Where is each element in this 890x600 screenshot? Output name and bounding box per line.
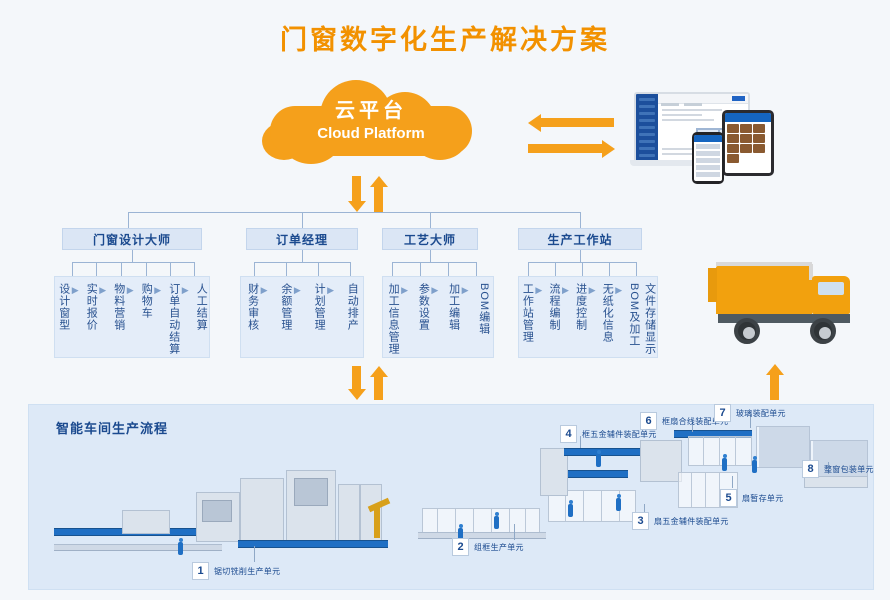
delivery-truck xyxy=(706,258,876,358)
laptop-toolbar xyxy=(658,94,748,104)
worker-figure xyxy=(752,460,757,473)
truck-window xyxy=(818,282,844,295)
item-label: 购物车 xyxy=(139,283,152,319)
module-body-3: 工作站管理▶ 流程编制▶ 进度控制▶ 无纸化信息▶ BOM及加工 文件存储显示 xyxy=(518,276,658,358)
module-item-2-0[interactable]: 加工信息管理▶ xyxy=(386,283,410,355)
chevron-right-icon: ▶ xyxy=(261,285,268,296)
item-label: 加工信息管理 xyxy=(386,283,399,355)
unit-number: 7 xyxy=(714,404,731,422)
module-item-2-1[interactable]: 参数设置▶ xyxy=(416,283,440,331)
arrow-right-icon xyxy=(528,140,616,160)
module-stem-2 xyxy=(430,250,431,262)
unit-label: 扇五金辅件装配单元 xyxy=(654,516,729,527)
item-label: 余额管理 xyxy=(279,283,292,331)
workshop-unit-2[interactable]: 2 组框生产单元 xyxy=(452,538,524,556)
unit-number: 5 xyxy=(720,489,737,507)
item-stem xyxy=(286,262,287,276)
item-label: 财务审核 xyxy=(246,283,259,331)
item-label: 订单自动结算 xyxy=(167,283,180,355)
tree-branch xyxy=(430,212,431,228)
module-item-0-3[interactable]: 购物车▶ xyxy=(139,283,163,319)
machine-unit xyxy=(240,478,284,542)
machine-unit xyxy=(338,484,360,542)
chevron-right-icon: ▶ xyxy=(154,285,161,296)
unit-label: 玻璃装配单元 xyxy=(736,408,786,419)
module-stem-0 xyxy=(132,250,133,262)
item-stem xyxy=(350,262,351,276)
item-label: 参数设置 xyxy=(416,283,429,331)
module-item-1-2[interactable]: 计划管理▶ xyxy=(312,283,336,331)
machine-conveyor xyxy=(54,544,222,551)
item-label: 实时报价 xyxy=(84,283,97,331)
truck-cargo-box xyxy=(716,266,812,314)
item-label: 进度控制 xyxy=(574,283,587,331)
arrow-up-icon xyxy=(766,364,796,400)
chevron-right-icon: ▶ xyxy=(535,285,542,296)
item-stem xyxy=(96,262,97,276)
item-stem xyxy=(609,262,610,276)
module-item-1-3[interactable]: 自动排产 xyxy=(345,283,358,331)
chevron-right-icon: ▶ xyxy=(294,285,301,296)
tree-branch xyxy=(128,212,129,228)
module-body-0: 设计窗型▶ 实时报价▶ 物料营销▶ 购物车▶ 订单自动结算▶ 人工结算 xyxy=(54,276,210,358)
unit-label: 组框生产单元 xyxy=(474,542,524,553)
item-stem xyxy=(146,262,147,276)
item-stem xyxy=(254,262,255,276)
module-item-1-0[interactable]: 财务审核▶ xyxy=(246,283,270,331)
unit-number: 2 xyxy=(452,538,469,556)
chevron-right-icon: ▶ xyxy=(99,285,106,296)
chevron-right-icon: ▶ xyxy=(462,285,469,296)
worker-figure xyxy=(178,542,183,555)
unit-number: 8 xyxy=(802,460,819,478)
cloud-label-cn: 云平台 xyxy=(262,98,480,124)
module-header-3[interactable]: 生产工作站 xyxy=(518,228,642,250)
module-item-3-5[interactable]: 文件存储显示 xyxy=(643,283,656,355)
item-stem xyxy=(528,262,529,276)
unit-label: 整窗包装单元 xyxy=(824,464,874,475)
item-stem xyxy=(72,262,73,276)
item-stem xyxy=(170,262,171,276)
cloud-label-en: Cloud Platform xyxy=(262,124,480,144)
chevron-right-icon: ▶ xyxy=(182,285,189,296)
worker-figure xyxy=(616,498,621,511)
module-header-1[interactable]: 订单经理 xyxy=(246,228,358,250)
worker-figure xyxy=(596,454,601,467)
item-stem xyxy=(420,262,421,276)
chevron-right-icon: ▶ xyxy=(327,285,334,296)
module-header-0[interactable]: 门窗设计大师 xyxy=(62,228,202,250)
workshop-unit-1[interactable]: 1 锯切铣削生产单元 xyxy=(192,562,280,580)
item-label: BOM及加工 xyxy=(627,283,640,347)
item-label: 工作站管理 xyxy=(520,283,533,343)
item-stem xyxy=(582,262,583,276)
workshop-unit-7[interactable]: 7 玻璃装配单元 xyxy=(714,404,786,422)
machine-unit xyxy=(122,510,170,534)
module-item-0-2[interactable]: 物料营销▶ xyxy=(112,283,136,331)
cloud-platform-node: 云平台 Cloud Platform xyxy=(262,78,480,166)
item-label: 无纸化信息 xyxy=(600,283,613,343)
workshop-unit-3[interactable]: 3 扇五金辅件装配单元 xyxy=(632,512,729,530)
item-label: 文件存储显示 xyxy=(643,283,656,355)
chevron-right-icon: ▶ xyxy=(615,285,622,296)
devices-group xyxy=(630,88,780,178)
machine-conveyor xyxy=(238,540,388,548)
truck-rear-flap xyxy=(708,268,717,302)
item-label: 自动排产 xyxy=(345,283,358,331)
module-item-3-4[interactable]: BOM及加工 xyxy=(627,283,640,347)
solution-diagram: 门窗数字化生产解决方案 云平台 Cloud Platform xyxy=(0,0,890,600)
tablet-device xyxy=(722,110,774,176)
cloud-labels: 云平台 Cloud Platform xyxy=(262,98,480,144)
unit-number: 6 xyxy=(640,412,657,430)
module-item-0-0[interactable]: 设计窗型▶ xyxy=(57,283,81,331)
item-stem xyxy=(476,262,477,276)
item-label: 人工结算 xyxy=(194,283,207,331)
module-item-3-2[interactable]: 进度控制▶ xyxy=(574,283,598,331)
module-item-1-1[interactable]: 余额管理▶ xyxy=(279,283,303,331)
module-body-1: 财务审核▶ 余额管理▶ 计划管理▶ 自动排产 xyxy=(240,276,364,358)
laptop-sidebar xyxy=(636,94,658,162)
item-stem xyxy=(448,262,449,276)
truck-wheel xyxy=(734,318,760,344)
worker-figure xyxy=(568,504,573,517)
tree-branch xyxy=(580,212,581,228)
module-body-2: 加工信息管理▶ 参数设置▶ 加工编辑▶ BOM编辑 xyxy=(382,276,494,358)
unit-number: 1 xyxy=(192,562,209,580)
item-stem xyxy=(555,262,556,276)
arrow-up-icon xyxy=(370,176,410,212)
unit-label: 扇暂存单元 xyxy=(742,493,784,504)
arrow-up-icon xyxy=(370,366,410,400)
chevron-right-icon: ▶ xyxy=(127,285,134,296)
item-label: 加工编辑 xyxy=(447,283,460,331)
module-stem-3 xyxy=(580,250,581,262)
item-label: 计划管理 xyxy=(312,283,325,331)
module-header-2[interactable]: 工艺大师 xyxy=(382,228,478,250)
callout-leader xyxy=(254,546,255,562)
machine-panel xyxy=(202,500,232,522)
machine-rack xyxy=(688,436,752,466)
item-label: 流程编制 xyxy=(547,283,560,331)
module-rail-1 xyxy=(254,262,350,263)
unit-number: 3 xyxy=(632,512,649,530)
item-stem xyxy=(194,262,195,276)
module-item-0-5[interactable]: 人工结算 xyxy=(194,283,207,331)
chevron-right-icon: ▶ xyxy=(72,285,79,296)
machine-unit xyxy=(640,440,682,482)
machine-rack xyxy=(422,508,540,534)
callout-leader xyxy=(732,476,733,488)
module-item-0-1[interactable]: 实时报价▶ xyxy=(84,283,108,331)
unit-label: 框五金辅件装配单元 xyxy=(582,429,657,440)
item-label: 设计窗型 xyxy=(57,283,70,331)
unit-label: 锯切铣削生产单元 xyxy=(214,566,280,577)
module-item-0-4[interactable]: 订单自动结算▶ xyxy=(167,283,191,355)
module-item-2-2[interactable]: 加工编辑▶ xyxy=(447,283,471,331)
item-stem xyxy=(318,262,319,276)
phone-device xyxy=(692,132,724,184)
module-item-3-1[interactable]: 流程编制▶ xyxy=(547,283,571,331)
chevron-right-icon: ▶ xyxy=(431,285,438,296)
page-title: 门窗数字化生产解决方案 xyxy=(0,18,890,57)
truck-wheel xyxy=(810,318,836,344)
workshop-unit-5[interactable]: 5 扇暂存单元 xyxy=(720,489,784,507)
item-stem xyxy=(121,262,122,276)
module-stem-1 xyxy=(302,250,303,262)
worker-figure xyxy=(494,516,499,529)
item-label: BOM编辑 xyxy=(477,283,490,335)
robot-arm xyxy=(374,506,380,538)
module-item-3-0[interactable]: 工作站管理▶ xyxy=(520,283,544,343)
chevron-right-icon: ▶ xyxy=(562,285,569,296)
module-item-2-3[interactable]: BOM编辑 xyxy=(477,283,490,335)
tree-branch xyxy=(302,212,303,228)
tree-trunk xyxy=(128,212,580,213)
module-rail-2 xyxy=(392,262,476,263)
machine-panel xyxy=(294,478,328,506)
item-label: 物料营销 xyxy=(112,283,125,331)
worker-figure xyxy=(722,458,727,471)
chevron-right-icon: ▶ xyxy=(401,285,408,296)
module-rail-0 xyxy=(72,262,194,263)
chevron-right-icon: ▶ xyxy=(589,285,596,296)
item-stem xyxy=(636,262,637,276)
module-item-3-3[interactable]: 无纸化信息▶ xyxy=(600,283,624,343)
unit-number: 4 xyxy=(560,425,577,443)
item-stem xyxy=(392,262,393,276)
workshop-unit-8[interactable]: 8 整窗包装单元 xyxy=(802,460,874,478)
arrow-left-icon xyxy=(528,114,616,134)
